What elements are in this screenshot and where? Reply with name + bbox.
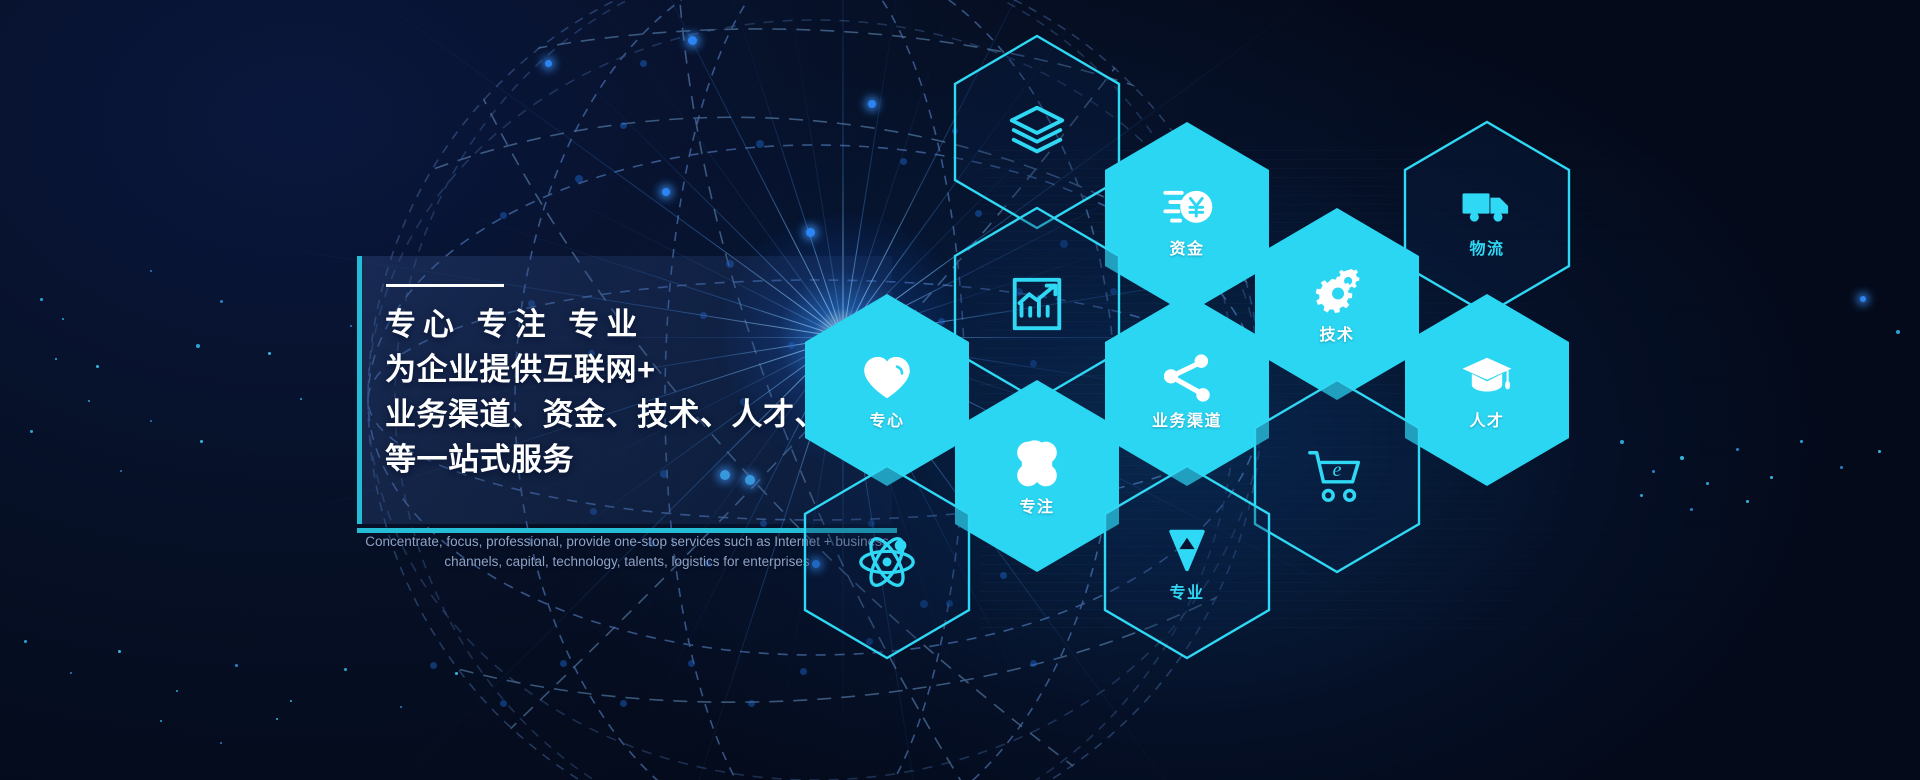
hex-cell-label: 技术 — [1319, 328, 1354, 344]
hex-cell-content: e — [1306, 378, 1368, 574]
truck-icon — [1460, 179, 1514, 233]
hex-cell-logistics[interactable]: 物流 — [1401, 120, 1573, 316]
gears-icon — [1310, 265, 1364, 319]
clover-icon — [1010, 437, 1064, 491]
hex-cell-chart[interactable] — [951, 206, 1123, 402]
hex-cell-channels[interactable]: 业务渠道 — [1101, 292, 1273, 488]
hex-cell-content — [1006, 206, 1068, 402]
e-cart-icon: e — [1306, 445, 1368, 507]
hex-cell-content: 专注 — [1010, 378, 1064, 574]
layers-icon — [1006, 101, 1068, 163]
hex-cell-focus[interactable]: 专注 — [951, 378, 1123, 574]
hex-cell-atom[interactable] — [801, 464, 973, 660]
hex-cell-content: 技术 — [1310, 206, 1364, 402]
hex-cell-label: 专注 — [1019, 500, 1054, 516]
yen-money-icon — [1160, 179, 1214, 233]
hex-cell-pro[interactable]: 专业 — [1101, 464, 1273, 660]
hex-cell-content: 资金 — [1160, 120, 1214, 316]
growth-chart-icon — [1006, 273, 1068, 335]
hex-cell-content — [856, 464, 918, 660]
hex-cell-label: 业务渠道 — [1152, 414, 1222, 430]
hex-cell-label: 专业 — [1169, 586, 1204, 602]
hex-cell-layers[interactable] — [951, 34, 1123, 230]
atom-icon — [856, 531, 918, 593]
hex-cell-funds[interactable]: 资金 — [1101, 120, 1273, 316]
hex-cell-talent[interactable]: 人才 — [1401, 292, 1573, 488]
hex-cell-label: 人才 — [1469, 414, 1504, 430]
hex-cell-label: 物流 — [1469, 242, 1504, 258]
graduation-cap-icon — [1460, 351, 1514, 405]
hex-cell-content — [1006, 34, 1068, 230]
hero-banner: 专心 专注 专业 为企业提供互联网+ 业务渠道、资金、技术、人才、物流 等一站式… — [0, 0, 1920, 780]
share-nodes-icon — [1160, 351, 1214, 405]
hexagon-grid: 资金物流技术专心业务渠道人才专注e专业 — [0, 0, 1920, 780]
hex-cell-ecart[interactable]: e — [1251, 378, 1423, 574]
hex-cell-content: 专业 — [1160, 464, 1214, 660]
hex-cell-content: 专心 — [860, 292, 914, 488]
hex-cell-tech[interactable]: 技术 — [1251, 206, 1423, 402]
hex-cell-content: 业务渠道 — [1152, 292, 1222, 488]
hex-cell-content: 人才 — [1460, 292, 1514, 488]
diamond-icon — [1160, 523, 1214, 577]
hex-cell-label: 专心 — [869, 414, 904, 430]
hex-cell-focusheart[interactable]: 专心 — [801, 292, 973, 488]
hex-cell-content: 物流 — [1460, 120, 1514, 316]
svg-text:e: e — [1332, 459, 1341, 481]
heart-icon — [860, 351, 914, 405]
hex-cell-label: 资金 — [1169, 242, 1204, 258]
